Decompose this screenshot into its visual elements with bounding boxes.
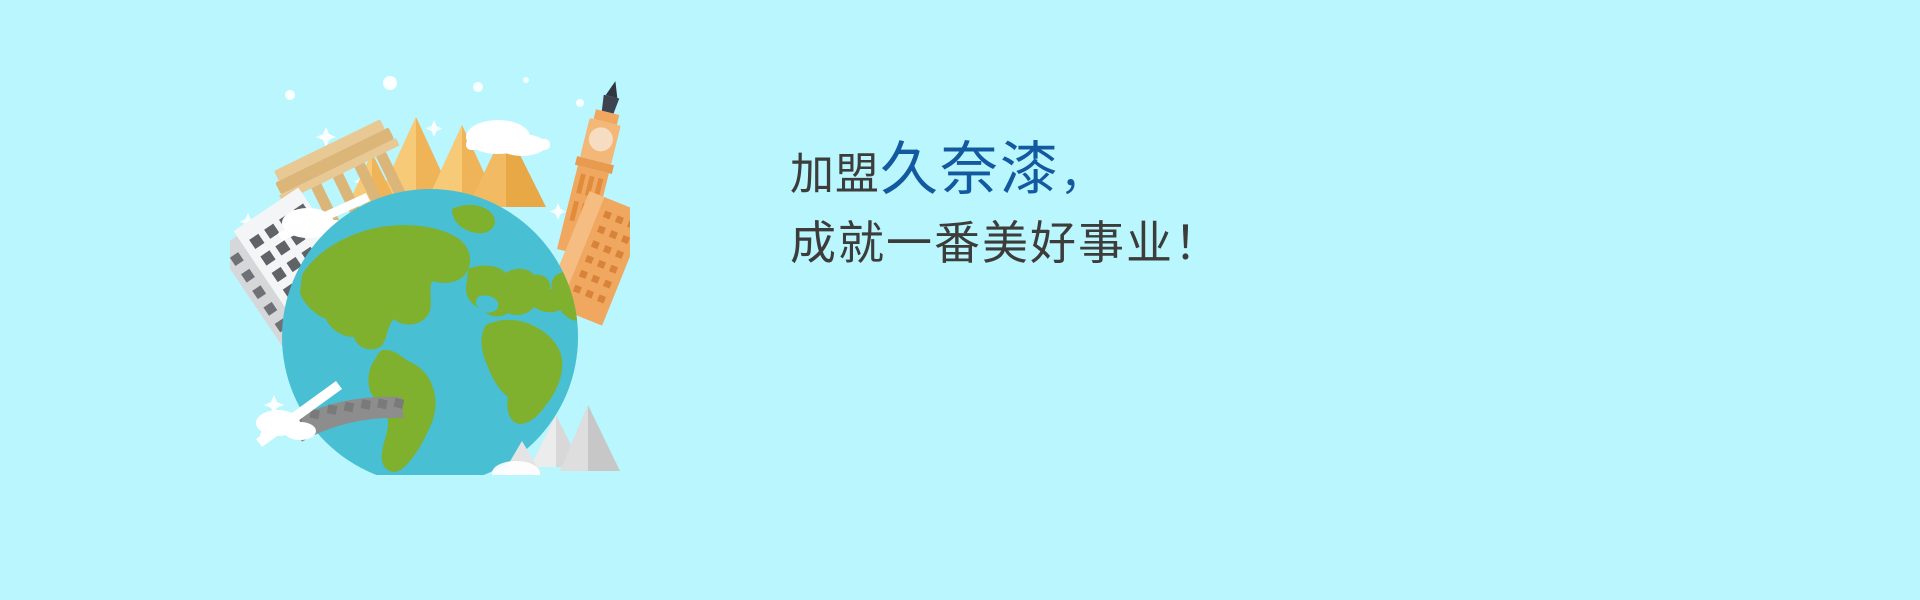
headline-subtitle: 成就一番美好事业！ <box>790 217 1222 269</box>
globe-with-world-landmarks-illustration <box>230 75 630 475</box>
cloud-group-upper <box>466 120 550 156</box>
headline-comma: ， <box>1060 150 1104 199</box>
headline-block: 加盟久奈漆， 成就一番美好事业！ <box>790 140 1410 267</box>
headline-line-1: 加盟久奈漆， <box>790 140 1410 201</box>
headline-line-2: 成就一番美好事业！ <box>790 219 1410 267</box>
headline-prefix: 加盟 <box>790 150 880 199</box>
promo-banner: 加盟久奈漆， 成就一番美好事业！ <box>0 0 1920 600</box>
brand-name: 久奈漆 <box>880 137 1060 202</box>
